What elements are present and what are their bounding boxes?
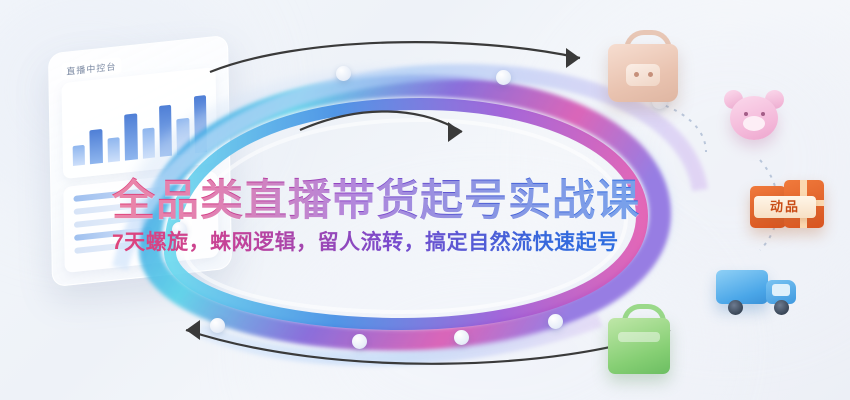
shopping-bag-pink-icon bbox=[600, 22, 686, 108]
gift-boxes-icon: 动品 bbox=[748, 176, 834, 242]
dashboard-chart-panel bbox=[62, 67, 218, 179]
page-subtitle: 7天螺旋，蛛网逻辑，留人流转，搞定自然流快速起号 bbox=[112, 226, 619, 256]
shopping-bag-green-icon bbox=[600, 296, 680, 382]
delivery-truck-icon bbox=[712, 262, 804, 324]
ribbon-node bbox=[496, 70, 511, 85]
live-console-title: 直播中控台 bbox=[61, 57, 121, 80]
teddy-bear-icon bbox=[718, 86, 790, 158]
poster-canvas: 直播中控台 bbox=[0, 0, 850, 400]
ribbon-node bbox=[548, 314, 563, 329]
ribbon-node bbox=[352, 334, 367, 349]
ribbon-node bbox=[454, 330, 469, 345]
dashboard-bar-chart bbox=[72, 86, 207, 166]
ribbon-node bbox=[210, 318, 225, 333]
gift-label: 动品 bbox=[754, 196, 816, 218]
page-title: 全品类直播带货起号实战课 bbox=[112, 166, 640, 228]
ribbon-node bbox=[336, 66, 351, 81]
